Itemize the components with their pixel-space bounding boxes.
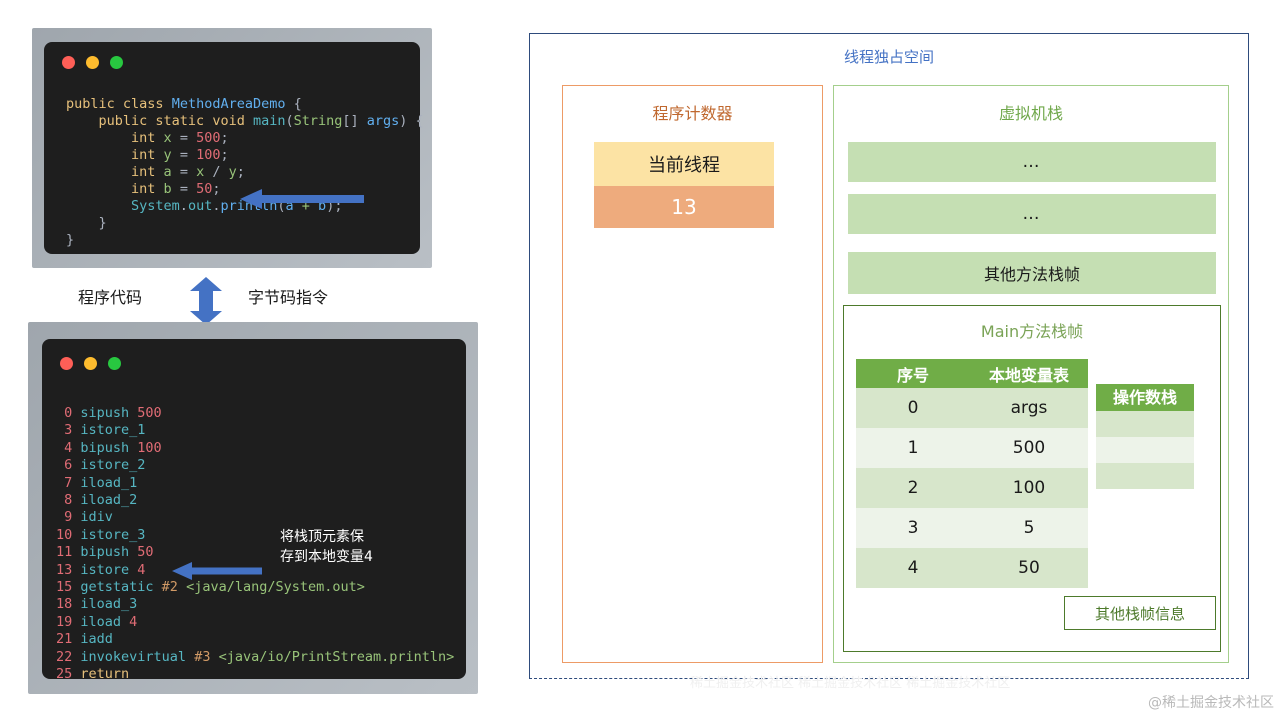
operand-stack-title: 操作数栈 <box>1096 384 1194 411</box>
bytecode-opcode: invokevirtual <box>80 649 186 665</box>
bytecode-offset: 11 <box>56 544 80 560</box>
code-token: x <box>196 164 212 180</box>
bytecode-line: 10 istore_3 <box>56 527 454 544</box>
code-token: args <box>367 113 400 129</box>
code-line: int y = 100; <box>66 147 424 164</box>
ellipsis-label: … <box>1023 204 1042 224</box>
cell-value: 5 <box>970 508 1088 548</box>
table-row: 1500 <box>856 428 1088 468</box>
bytecode-opcode: getstatic <box>80 579 153 595</box>
bytecode-opcode: istore_2 <box>80 457 145 473</box>
col-header-local-vars: 本地变量表 <box>970 359 1088 388</box>
operand-stack-slot <box>1096 463 1194 489</box>
code-token: x <box>164 130 180 146</box>
bytecode-line: 19 iload 4 <box>56 614 454 631</box>
bytecode-opcode: iload_3 <box>80 596 137 612</box>
bytecode-offset: 4 <box>56 440 80 456</box>
maximize-dot[interactable] <box>108 357 121 370</box>
col-header-index: 序号 <box>856 359 970 388</box>
bytecode-offset: 8 <box>56 492 80 508</box>
cell-index: 3 <box>856 508 970 548</box>
program-counter-panel: 程序计数器 当前线程 13 <box>562 85 823 663</box>
code-token: int <box>66 181 164 197</box>
table-row: 35 <box>856 508 1088 548</box>
bytecode-opcode: istore <box>80 562 129 578</box>
code-token: a <box>164 164 180 180</box>
code-token: = <box>180 147 196 163</box>
maximize-dot[interactable] <box>110 56 123 69</box>
bytecode-line: 6 istore_2 <box>56 457 454 474</box>
bytecode-opcode: sipush <box>80 405 129 421</box>
bytecode-offset: 25 <box>56 666 80 682</box>
source-arrow-int-b <box>240 188 364 210</box>
code-token: ; <box>220 147 228 163</box>
bytecode-line: 9 idiv <box>56 509 454 526</box>
program-counter-title: 程序计数器 <box>563 100 822 124</box>
source-code-surface: public class MethodAreaDemo { public sta… <box>44 42 420 254</box>
bytecode-operand: 50 <box>129 544 153 560</box>
code-token: static <box>155 113 212 129</box>
code-token: int <box>66 147 164 163</box>
code-token: = <box>180 164 196 180</box>
main-method-frame-title: Main方法栈帧 <box>844 318 1220 342</box>
cell-index: 4 <box>856 548 970 588</box>
code-token: int <box>66 130 164 146</box>
code-line: } <box>66 215 424 232</box>
other-frame-info-box: 其他栈帧信息 <box>1064 596 1216 630</box>
code-token: ; <box>212 181 220 197</box>
bytecode-opcode: return <box>80 666 129 682</box>
table-row: 0args <box>856 388 1088 428</box>
vm-stack-panel: 虚拟机栈 … … 其他方法栈帧 Main方法栈帧 序号 本地变量表 0args1… <box>833 85 1229 663</box>
bytecode-opcode: istore_3 <box>80 527 145 543</box>
bytecode-line: 0 sipush 500 <box>56 405 454 422</box>
bytecode-opcode: iload_1 <box>80 475 137 491</box>
cell-index: 0 <box>856 388 970 428</box>
bytecode-line: 15 getstatic #2 <java/lang/System.out> <box>56 579 454 596</box>
code-token: main <box>253 113 286 129</box>
bytecode-opcode: bipush <box>80 440 129 456</box>
code-token: { <box>285 96 301 112</box>
code-token: public <box>66 113 155 129</box>
vm-stack-title: 虚拟机栈 <box>834 100 1228 124</box>
close-dot[interactable] <box>62 56 75 69</box>
source-traffic-lights[interactable] <box>62 56 123 69</box>
watermark: @稀土掘金技术社区 <box>1148 692 1274 712</box>
cell-value: 50 <box>970 548 1088 588</box>
code-token: System <box>66 198 180 214</box>
bytecode-opcode: idiv <box>80 509 113 525</box>
code-token: ) { <box>399 113 423 129</box>
code-token: = <box>180 181 196 197</box>
bytecode-offset: 7 <box>56 475 80 491</box>
bytecode-note-line-2: 存到本地变量4 <box>280 547 373 567</box>
stack-frame-placeholder-2: … <box>848 194 1216 234</box>
bytecode-offset: 22 <box>56 649 80 665</box>
minimize-dot[interactable] <box>86 56 99 69</box>
operand-stack: 操作数栈 <box>1096 384 1194 489</box>
code-token: y <box>164 147 180 163</box>
bytecode-note-line-1: 将栈顶元素保 <box>280 527 373 547</box>
code-token: ; <box>237 164 245 180</box>
bytecode-line: 22 invokevirtual #3 <java/io/PrintStream… <box>56 649 454 666</box>
bytecode-opcode: iload_2 <box>80 492 137 508</box>
code-token: String <box>294 113 343 129</box>
bytecode-offset: 3 <box>56 422 80 438</box>
divider-left-label: 程序代码 <box>78 284 142 308</box>
bytecode-opcode: iadd <box>80 631 113 647</box>
code-token: 50 <box>196 181 212 197</box>
code-line: } <box>66 232 424 249</box>
code-token: MethodAreaDemo <box>172 96 286 112</box>
bytecode-traffic-lights[interactable] <box>60 357 121 370</box>
bytecode-line: 25 return <box>56 666 454 683</box>
bytecode-offset: 0 <box>56 405 80 421</box>
bytecode-note: 将栈顶元素保 存到本地变量4 <box>280 527 373 567</box>
bytecode-offset: 21 <box>56 631 80 647</box>
code-token: void <box>212 113 253 129</box>
table-row: 2100 <box>856 468 1088 508</box>
bytecode-operand: 4 <box>129 562 145 578</box>
bytecode-offset: 18 <box>56 596 80 612</box>
bytecode-constant-ref: <java/lang/System.out> <box>178 579 365 595</box>
bytecode-offset: 19 <box>56 614 80 630</box>
code-line: int x = 500; <box>66 130 424 147</box>
minimize-dot[interactable] <box>84 357 97 370</box>
code-token: ( <box>285 113 293 129</box>
divider-right-label: 字节码指令 <box>248 284 328 308</box>
bytecode-line: 18 iload_3 <box>56 596 454 613</box>
stack-frame-placeholder-1: … <box>848 142 1216 182</box>
source-code-window: public class MethodAreaDemo { public sta… <box>32 28 432 268</box>
operand-stack-slot <box>1096 437 1194 463</box>
bytecode-surface: 0 sipush 500 3 istore_1 4 bipush 100 6 i… <box>42 339 466 679</box>
table-header-row: 序号 本地变量表 <box>856 359 1088 388</box>
code-line: int a = x / y; <box>66 164 424 181</box>
code-line: public static void main(String[] args) { <box>66 113 424 130</box>
bytecode-opcode: istore_1 <box>80 422 145 438</box>
code-token: / <box>212 164 228 180</box>
code-token: = <box>180 130 196 146</box>
bytecode-line: 3 istore_1 <box>56 422 454 439</box>
main-method-frame: Main方法栈帧 序号 本地变量表 0args1500210035450 操作数… <box>843 305 1221 652</box>
current-thread-cell: 当前线程 <box>594 142 774 186</box>
bytecode-offset: 15 <box>56 579 80 595</box>
local-variable-table: 序号 本地变量表 0args1500210035450 <box>856 359 1088 588</box>
bytecode-operand: #3 <box>186 649 210 665</box>
code-token: 100 <box>196 147 220 163</box>
bytecode-arrow-istore4 <box>172 561 262 581</box>
bytecode-line: 8 iload_2 <box>56 492 454 509</box>
cell-value: args <box>970 388 1088 428</box>
bytecode-window: 0 sipush 500 3 istore_1 4 bipush 100 6 i… <box>28 322 478 694</box>
code-token: out <box>188 198 212 214</box>
bytecode-opcode: bipush <box>80 544 129 560</box>
bytecode-line: 7 iload_1 <box>56 475 454 492</box>
bytecode-operand: #2 <box>154 579 178 595</box>
bytecode-offset: 13 <box>56 562 80 578</box>
diagram-title: 线程独占空间 <box>529 46 1249 67</box>
watermark-faint: 稀土掘金技术社区 稀土掘金技术社区 稀土掘金技术社区 <box>690 672 1010 691</box>
bytecode-opcode: iload <box>80 614 121 630</box>
cell-index: 2 <box>856 468 970 508</box>
program-counter-value: 13 <box>594 186 774 228</box>
code-token: public <box>66 96 123 112</box>
code-line: public class MethodAreaDemo { <box>66 96 424 113</box>
source-code-text: public class MethodAreaDemo { public sta… <box>66 96 424 249</box>
bytecode-operand: 500 <box>129 405 162 421</box>
bytecode-line: 21 iadd <box>56 631 454 648</box>
code-token: 500 <box>196 130 220 146</box>
code-token: } <box>66 232 74 248</box>
bytecode-offset: 10 <box>56 527 80 543</box>
code-token: class <box>123 96 172 112</box>
bytecode-offset: 6 <box>56 457 80 473</box>
other-method-frame: 其他方法栈帧 <box>848 252 1216 294</box>
close-dot[interactable] <box>60 357 73 370</box>
code-token: . <box>180 198 188 214</box>
code-token: y <box>229 164 237 180</box>
operand-stack-slot <box>1096 411 1194 437</box>
code-token: int <box>66 164 164 180</box>
ellipsis-label: … <box>1023 152 1042 172</box>
code-token: } <box>66 215 107 231</box>
code-token: ; <box>220 130 228 146</box>
bytecode-operand: 100 <box>129 440 162 456</box>
bytecode-line: 4 bipush 100 <box>56 440 454 457</box>
bytecode-operand: 4 <box>121 614 137 630</box>
cell-index: 1 <box>856 428 970 468</box>
code-token: b <box>164 181 180 197</box>
cell-value: 500 <box>970 428 1088 468</box>
table-row: 450 <box>856 548 1088 588</box>
cell-value: 100 <box>970 468 1088 508</box>
bytecode-text: 0 sipush 500 3 istore_1 4 bipush 100 6 i… <box>56 405 454 684</box>
bytecode-line: 11 bipush 50 <box>56 544 454 561</box>
code-token: [] <box>342 113 366 129</box>
bytecode-constant-ref: <java/io/PrintStream.println> <box>210 649 454 665</box>
bytecode-offset: 9 <box>56 509 80 525</box>
up-down-arrow <box>188 277 224 325</box>
